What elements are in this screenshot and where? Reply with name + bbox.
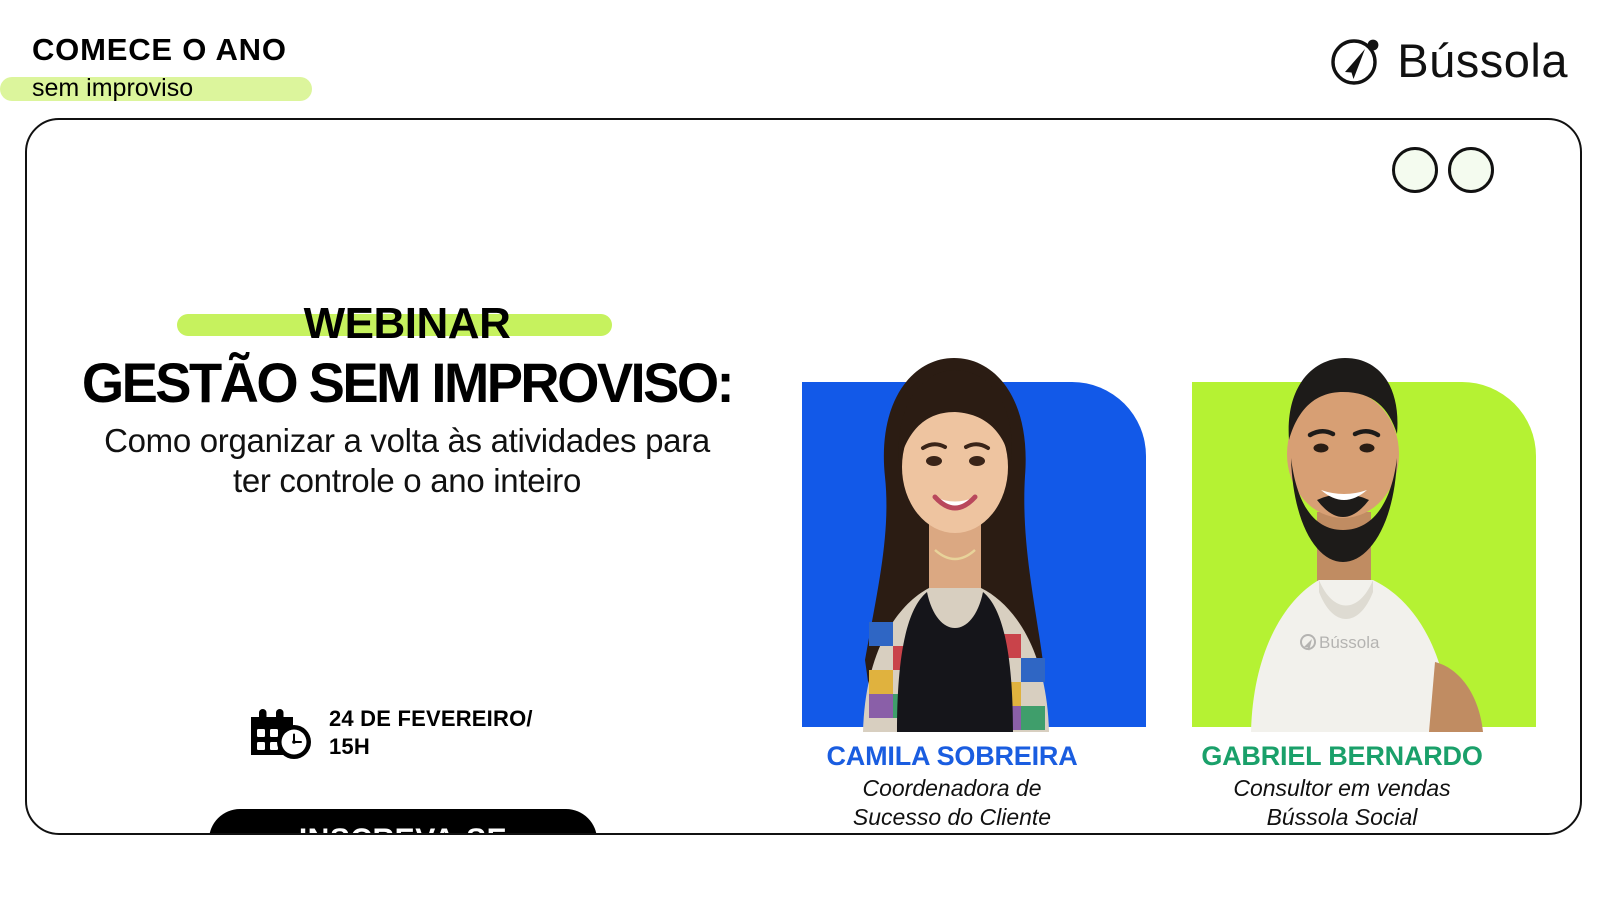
speaker-photo-frame: Bússola bbox=[1167, 262, 1517, 732]
speaker-card-camila: CAMILA SOBREIRA Coordenadora de Sucesso … bbox=[777, 262, 1127, 833]
speaker-portrait-gabriel: Bússola bbox=[1167, 262, 1517, 732]
copy-column: WEBINAR GESTÃO SEM IMPROVISO: Como organ… bbox=[27, 300, 787, 500]
poster-canvas: COMECE O ANO sem improviso Bússola WEBIN… bbox=[0, 0, 1600, 900]
speaker-portrait-camila bbox=[777, 262, 1127, 732]
header-lockup: COMECE O ANO sem improviso bbox=[32, 34, 287, 104]
svg-text:Bússola: Bússola bbox=[1319, 633, 1380, 652]
brand-logo: Bússola bbox=[1328, 32, 1568, 88]
compass-navigation-arrow-icon bbox=[1328, 32, 1384, 88]
date-line-2: 15H bbox=[329, 733, 533, 761]
decor-circles bbox=[1392, 147, 1494, 193]
subheadline: Como organizar a volta às atividades par… bbox=[27, 421, 787, 500]
speaker-role-line-2: Sucesso do Cliente bbox=[777, 803, 1127, 832]
register-button[interactable]: INSCREVA-SE bbox=[209, 809, 597, 835]
calendar-clock-icon bbox=[249, 705, 311, 761]
speaker-role: Consultor em vendas Bússola Social bbox=[1167, 774, 1517, 833]
header-subtitle-wrap: sem improviso bbox=[32, 74, 287, 104]
speaker-role-line-1: Consultor em vendas bbox=[1167, 774, 1517, 803]
header-subtitle: sem improviso bbox=[32, 74, 287, 103]
webinar-badge: WEBINAR bbox=[27, 300, 787, 348]
date-row: 24 DE FEVEREIRO/ 15H bbox=[249, 705, 533, 761]
brand-name: Bússola bbox=[1397, 37, 1568, 84]
date-line-1: 24 DE FEVEREIRO/ bbox=[329, 705, 533, 733]
speaker-photo-frame bbox=[777, 262, 1127, 732]
main-card: WEBINAR GESTÃO SEM IMPROVISO: Como organ… bbox=[25, 118, 1582, 835]
webinar-label: WEBINAR bbox=[27, 300, 787, 348]
headline: GESTÃO SEM IMPROVISO: bbox=[38, 354, 775, 411]
speaker-card-gabriel: Bússola GABRIEL BERNARDO Consultor em ve… bbox=[1167, 262, 1517, 833]
date-text: 24 DE FEVEREIRO/ 15H bbox=[329, 705, 533, 761]
circle-outline-icon-1 bbox=[1392, 147, 1438, 193]
header-title: COMECE O ANO bbox=[32, 34, 287, 65]
speaker-name: GABRIEL BERNARDO bbox=[1167, 742, 1517, 772]
circle-outline-icon-2 bbox=[1448, 147, 1494, 193]
speaker-role-line-1: Coordenadora de bbox=[777, 774, 1127, 803]
speaker-role-line-2: Bússola Social bbox=[1167, 803, 1517, 832]
speaker-role: Coordenadora de Sucesso do Cliente bbox=[777, 774, 1127, 833]
speaker-name: CAMILA SOBREIRA bbox=[777, 742, 1127, 772]
